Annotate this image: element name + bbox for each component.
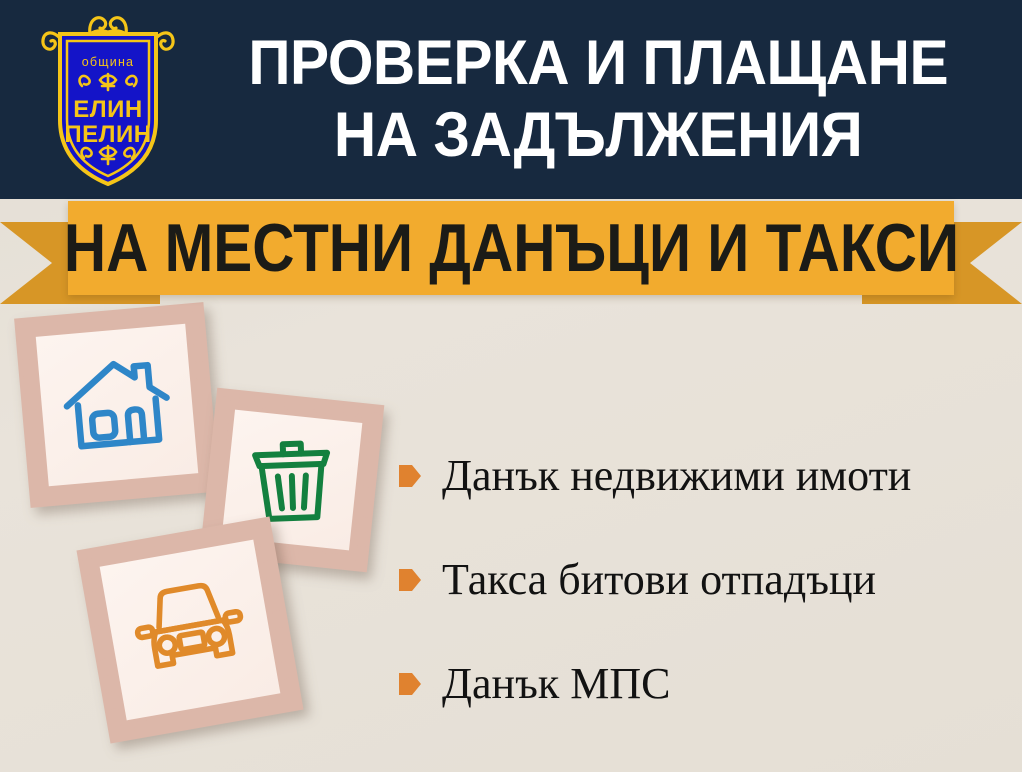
svg-text:ЕЛИН: ЕЛИН xyxy=(73,96,142,123)
stamp-card-house xyxy=(14,302,220,508)
house-icon xyxy=(59,350,175,459)
municipality-logo: община ЕЛИН ПЕЛИН xyxy=(38,8,178,190)
page-title-line-2: НА ЗАДЪЛЖЕНИЯ xyxy=(334,100,862,172)
page-title: ПРОВЕРКА И ПЛАЩАНЕ НА ЗАДЪЛЖЕНИЯ xyxy=(186,16,1010,184)
list-item-label: Данък недвижими имоти xyxy=(442,452,911,500)
ribbon-banner: НА МЕСТНИ ДАНЪЦИ И ТАКСИ xyxy=(68,201,954,295)
stamp-card-car xyxy=(76,516,303,743)
list-item: Данък МПС xyxy=(398,632,1012,736)
list-item: Такса битови отпадъци xyxy=(398,528,1012,632)
pentagon-arrow-bullet-icon xyxy=(398,670,422,698)
stamp-card-group xyxy=(0,300,420,772)
pentagon-arrow-bullet-icon xyxy=(398,566,422,594)
pentagon-arrow-bullet-icon xyxy=(398,462,422,490)
svg-text:ПЕЛИН: ПЕЛИН xyxy=(64,121,151,148)
svg-text:община: община xyxy=(82,55,134,69)
list-item: Данък недвижими имоти xyxy=(398,424,1012,528)
tax-types-list: Данък недвижими имоти Такса битови отпад… xyxy=(398,424,1012,736)
poster-canvas: община ЕЛИН ПЕЛИН ПРОВЕРКА И П xyxy=(0,0,1022,772)
list-item-label: Данък МПС xyxy=(442,660,670,708)
trash-can-icon xyxy=(241,427,343,532)
list-item-label: Такса битови отпадъци xyxy=(442,556,876,604)
ribbon-label: НА МЕСТНИ ДАНЪЦИ И ТАКСИ xyxy=(63,214,958,282)
car-front-icon xyxy=(127,573,254,687)
stamp-paper xyxy=(100,540,281,721)
page-title-line-1: ПРОВЕРКА И ПЛАЩАНЕ xyxy=(248,28,948,100)
stamp-paper xyxy=(36,324,199,487)
subtitle-ribbon: НА МЕСТНИ ДАНЪЦИ И ТАКСИ xyxy=(0,198,1022,310)
